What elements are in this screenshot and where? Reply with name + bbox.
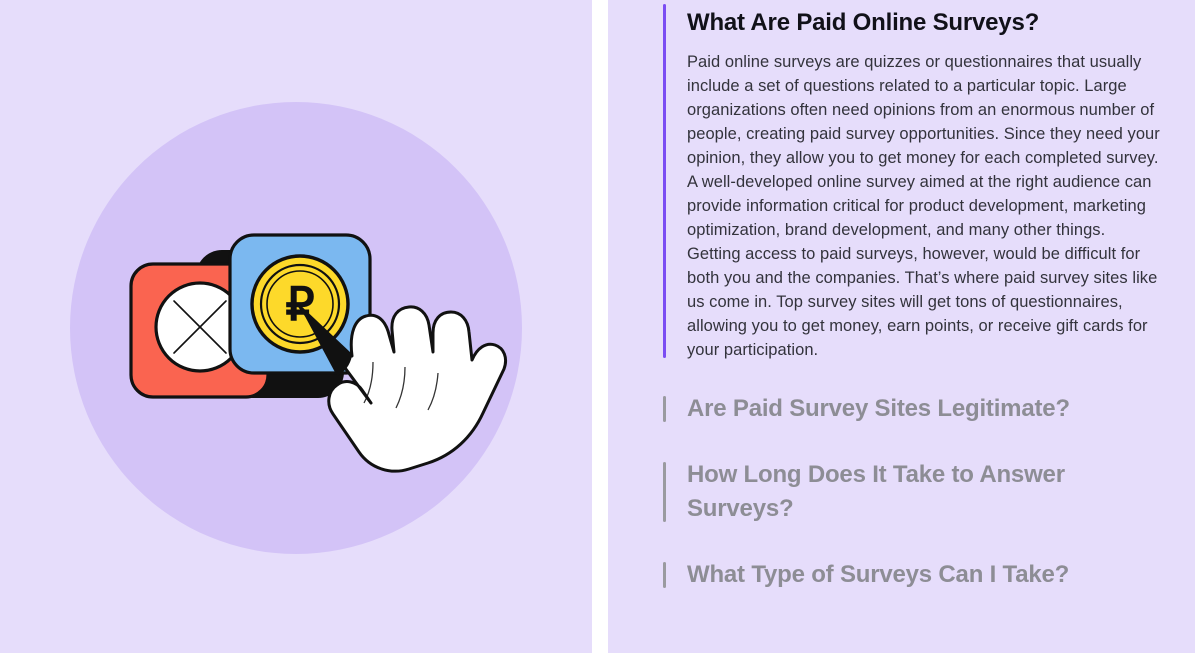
faq-paragraph: Paid online surveys are quizzes or quest… [687, 50, 1165, 170]
faq-panel: What Are Paid Online Surveys? Paid onlin… [608, 0, 1195, 653]
panel-divider [592, 0, 608, 653]
accent-bar [663, 562, 666, 588]
faq-question[interactable]: How Long Does It Take to Answer Surveys? [687, 458, 1165, 526]
faq-question[interactable]: What Are Paid Online Surveys? [687, 6, 1165, 40]
faq-paragraph: Getting access to paid surveys, however,… [687, 242, 1165, 362]
faq-item-what-type-of-surveys-can-i-take[interactable]: What Type of Surveys Can I Take? [663, 558, 1165, 592]
accent-bar [663, 4, 666, 358]
faq-item-how-long-does-it-take-to-answer-surveys[interactable]: How Long Does It Take to Answer Surveys? [663, 458, 1165, 526]
illustration-stage: ₽ [0, 0, 592, 653]
faq-item-what-are-paid-online-surveys[interactable]: What Are Paid Online Surveys? Paid onlin… [663, 0, 1165, 362]
illustration-panel: ₽ [0, 0, 592, 653]
accent-bar [663, 396, 666, 422]
faq-page: ₽ [0, 0, 1195, 653]
faq-question[interactable]: What Type of Surveys Can I Take? [687, 558, 1165, 592]
paid-survey-click-illustration: ₽ [0, 0, 592, 653]
faq-paragraph: A well-developed online survey aimed at … [687, 170, 1165, 242]
faq-item-are-paid-survey-sites-legitimate[interactable]: Are Paid Survey Sites Legitimate? [663, 392, 1165, 426]
faq-accordion: What Are Paid Online Surveys? Paid onlin… [608, 0, 1195, 653]
faq-answer: Paid online surveys are quizzes or quest… [687, 40, 1165, 362]
accent-bar [663, 462, 666, 522]
faq-question[interactable]: Are Paid Survey Sites Legitimate? [687, 392, 1165, 426]
